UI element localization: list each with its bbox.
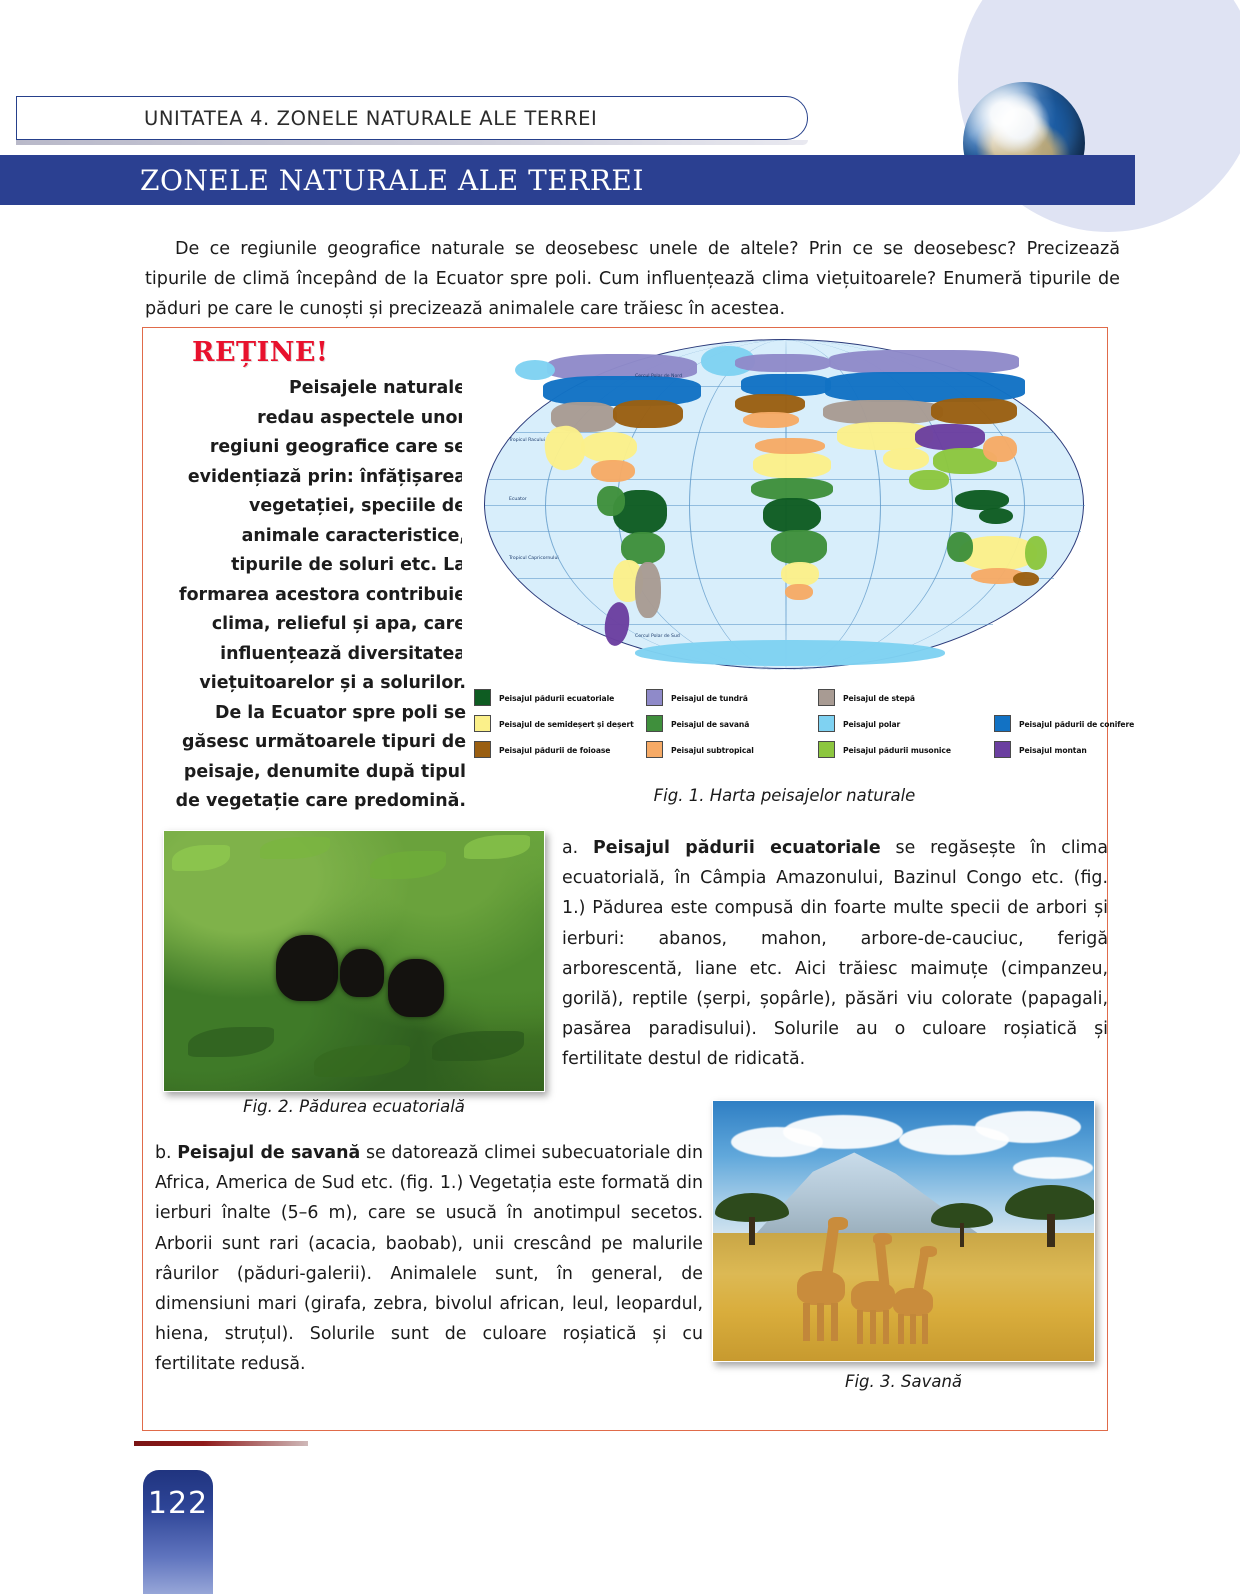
map-landmass bbox=[883, 448, 929, 470]
acacia-tree bbox=[931, 1203, 993, 1247]
legend-item: Peisajul montan bbox=[994, 741, 1110, 758]
map-landmass bbox=[753, 452, 831, 478]
map-landmass bbox=[979, 508, 1013, 524]
retine-line: peisaje, denumite după tipul bbox=[152, 758, 466, 788]
legend-label: Peisajul polar bbox=[843, 719, 900, 729]
section-b-text: b. Peisajul de savană se datorează clime… bbox=[155, 1138, 703, 1380]
legend-item: Peisajul de tundră bbox=[646, 689, 818, 706]
map-landmass bbox=[1025, 536, 1047, 570]
map-landmass bbox=[823, 400, 943, 424]
map-landmass bbox=[1013, 572, 1039, 586]
map-landmass bbox=[635, 562, 661, 618]
map-landmass bbox=[591, 460, 635, 482]
legend-swatch bbox=[474, 741, 491, 758]
legend-swatch bbox=[994, 715, 1011, 732]
section-marker: b. bbox=[155, 1143, 177, 1163]
section-lead: Peisajul de savană bbox=[177, 1143, 360, 1163]
retine-line: tipurile de soluri etc. La bbox=[152, 551, 466, 581]
legend-swatch bbox=[818, 715, 835, 732]
legend-swatch bbox=[646, 741, 663, 758]
map-landmass bbox=[515, 360, 555, 380]
map-landmass bbox=[829, 350, 1019, 374]
acacia-tree bbox=[1005, 1185, 1095, 1247]
section-a-text: a. Peisajul pădurii ecuatoriale se regăs… bbox=[562, 833, 1108, 1075]
gorilla-figure bbox=[276, 935, 338, 1001]
map-ocean: Cercul Polar de NordTropicul RaculuiEcua… bbox=[484, 339, 1084, 669]
map-landmass bbox=[751, 478, 833, 500]
map-landmass bbox=[597, 486, 625, 516]
map-landmass bbox=[755, 438, 825, 454]
retine-line: formarea acestora contribuie bbox=[152, 581, 466, 611]
map-landmass bbox=[781, 562, 819, 586]
fig3-caption: Fig. 3. Savană bbox=[712, 1372, 1095, 1391]
legend-item: Peisajul pădurii de conifere bbox=[994, 715, 1110, 732]
legend-label: Peisajul de semideșert și deșert bbox=[499, 719, 634, 729]
map-latitude-label: Ecuator bbox=[509, 497, 527, 502]
map-landmass bbox=[602, 601, 632, 648]
unit-banner: UNITATEA 4. ZONELE NATURALE ALE TERREI bbox=[16, 96, 808, 140]
retine-line: de vegetație care predomină. bbox=[152, 787, 466, 817]
legend-label: Peisajul de stepă bbox=[843, 693, 915, 703]
giraffe-figure bbox=[795, 1223, 855, 1341]
map-parallel bbox=[577, 624, 993, 625]
map-landmass bbox=[635, 640, 945, 666]
textbook-page: UNITATEA 4. ZONELE NATURALE ALE TERREI Z… bbox=[0, 0, 1240, 1594]
map-landmass bbox=[825, 372, 1025, 402]
map-landmass bbox=[771, 530, 827, 564]
page-number: 122 bbox=[143, 1486, 213, 1521]
retine-line: găsesc următoarele tipuri de bbox=[152, 728, 466, 758]
legend-label: Peisajul pădurii musonice bbox=[843, 745, 951, 755]
map-landmass bbox=[763, 498, 821, 532]
cloud-shape bbox=[975, 1111, 1081, 1143]
map-latitude-label: Cercul Polar de Sud bbox=[635, 634, 680, 639]
map-landmass bbox=[931, 398, 1017, 424]
map-landmass bbox=[581, 432, 637, 462]
map-landmass bbox=[915, 424, 985, 450]
legend-item: Peisajul de semideșert și deșert bbox=[474, 715, 646, 732]
cloud-shape bbox=[1013, 1157, 1093, 1179]
gorilla-figure bbox=[388, 959, 444, 1017]
retine-line: De la Ecuator spre poli se bbox=[152, 699, 466, 729]
map-landmass bbox=[983, 436, 1017, 462]
gorilla-figure bbox=[340, 949, 384, 997]
cloud-shape bbox=[783, 1115, 903, 1149]
legend-item: Peisajul polar bbox=[818, 715, 994, 732]
map-landmass bbox=[909, 470, 949, 490]
page-number-tab: 122 bbox=[143, 1470, 213, 1594]
legend-item: Peisajul de stepă bbox=[818, 689, 994, 706]
acacia-tree bbox=[715, 1193, 789, 1245]
retine-line: influențează diversitatea bbox=[152, 640, 466, 670]
retine-line: Peisajele naturale bbox=[152, 374, 466, 404]
legend-label: Peisajul pădurii ecuatoriale bbox=[499, 693, 614, 703]
fig2-caption: Fig. 2. Pădurea ecuatorială bbox=[163, 1097, 545, 1116]
legend-label: Peisajul pădurii de foioase bbox=[499, 745, 610, 755]
legend-item bbox=[994, 689, 1110, 706]
page-title: ZONELE NATURALE ALE TERREI bbox=[0, 164, 644, 197]
map-landmass bbox=[743, 412, 799, 428]
legend-swatch bbox=[474, 715, 491, 732]
legend-label: Peisajul de savană bbox=[671, 719, 749, 729]
retine-line: vegetației, speciile de bbox=[152, 492, 466, 522]
legend-item: Peisajul pădurii musonice bbox=[818, 741, 994, 758]
legend-swatch bbox=[818, 689, 835, 706]
legend-swatch bbox=[646, 689, 663, 706]
map-landmass bbox=[955, 490, 1009, 510]
legend-item: Peisajul pădurii ecuatoriale bbox=[474, 689, 646, 706]
retine-line: evidențiază prin: înfățișarea bbox=[152, 463, 466, 493]
legend-label: Peisajul subtropical bbox=[671, 745, 754, 755]
legend-swatch bbox=[818, 741, 835, 758]
footer-rule bbox=[134, 1441, 308, 1446]
legend-swatch bbox=[994, 741, 1011, 758]
map-legend: Peisajul pădurii ecuatorialePeisajul de … bbox=[474, 689, 1110, 758]
legend-item: Peisajul de savană bbox=[646, 715, 818, 732]
section-lead: Peisajul pădurii ecuatoriale bbox=[593, 838, 881, 858]
map-landmass bbox=[613, 400, 683, 428]
savanna-photo bbox=[712, 1100, 1095, 1362]
map-landmass bbox=[785, 584, 813, 600]
retine-line: regiuni geografice care se bbox=[152, 433, 466, 463]
retine-line: viețuitoarelor și a solurilor. bbox=[152, 669, 466, 699]
legend-swatch bbox=[474, 689, 491, 706]
giraffe-figure bbox=[891, 1251, 943, 1347]
retine-line: animale caracteristice, bbox=[152, 522, 466, 552]
unit-banner-shadow bbox=[16, 140, 808, 145]
section-marker: a. bbox=[562, 838, 593, 858]
legend-item: Peisajul subtropical bbox=[646, 741, 818, 758]
retine-panel: REȚINE! Peisajele naturaleredau aspectel… bbox=[152, 331, 470, 817]
map-latitude-label: Tropicul Racului bbox=[509, 438, 545, 443]
map-landmass bbox=[735, 354, 831, 372]
fig1-caption: Fig. 1. Harta peisajelor naturale bbox=[462, 786, 1107, 805]
world-map-figure: Cercul Polar de NordTropicul RaculuiEcua… bbox=[462, 333, 1107, 783]
unit-label: UNITATEA 4. ZONELE NATURALE ALE TERREI bbox=[17, 107, 597, 130]
map-latitude-label: Tropicul Capricornului bbox=[509, 556, 559, 561]
section-body: se datorează climei subecuatoriale din A… bbox=[155, 1143, 703, 1374]
map-landmass bbox=[543, 376, 701, 406]
map-latitude-label: Cercul Polar de Nord bbox=[635, 374, 682, 379]
retine-title: REȚINE! bbox=[192, 337, 470, 368]
map-landmass bbox=[947, 532, 973, 562]
legend-swatch bbox=[646, 715, 663, 732]
map-landmass bbox=[735, 394, 805, 414]
legend-label: Peisajul pădurii de conifere bbox=[1019, 719, 1134, 729]
retine-line: redau aspectele unor bbox=[152, 404, 466, 434]
retine-body: Peisajele naturaleredau aspectele unorre… bbox=[152, 374, 470, 817]
legend-item: Peisajul pădurii de foioase bbox=[474, 741, 646, 758]
world-map-image: Cercul Polar de NordTropicul RaculuiEcua… bbox=[462, 333, 1107, 678]
legend-label: Peisajul de tundră bbox=[671, 693, 748, 703]
equatorial-forest-photo bbox=[163, 830, 545, 1092]
intro-paragraph: De ce regiunile geografice naturale se d… bbox=[145, 234, 1120, 324]
section-body: se regăsește în clima ecuatorială, în Câ… bbox=[562, 838, 1108, 1069]
chapter-title-bar: ZONELE NATURALE ALE TERREI bbox=[0, 155, 1135, 205]
legend-label: Peisajul montan bbox=[1019, 745, 1087, 755]
retine-line: clima, relieful și apa, care bbox=[152, 610, 466, 640]
map-landmass bbox=[741, 374, 831, 396]
